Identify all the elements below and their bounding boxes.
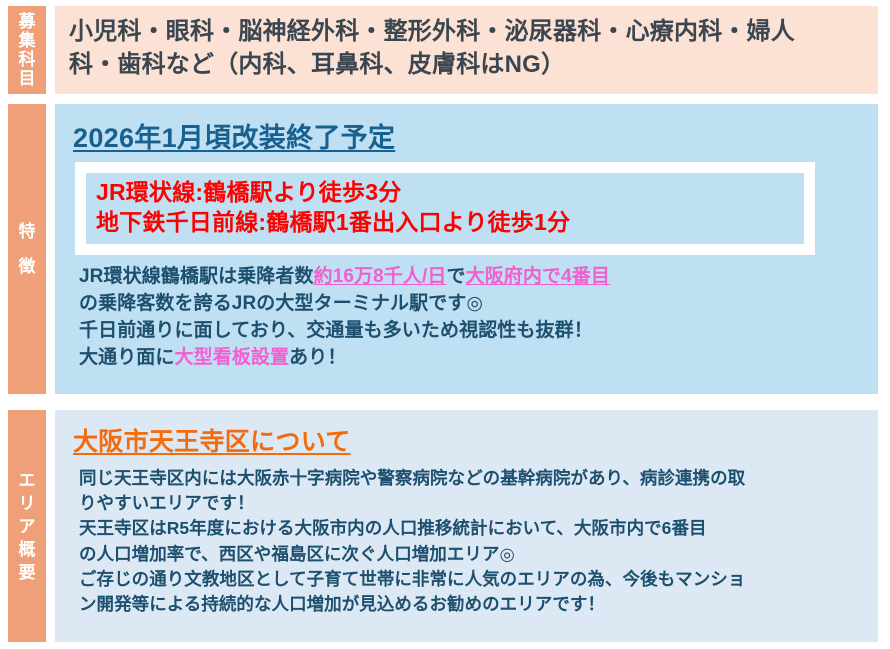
sidebar-label-area: エ リ ア 概 要 [8, 410, 46, 642]
features-body-line-2: の乗降客数を誇るJRの大型ターミナル駅です◎ [79, 291, 866, 318]
sidebar-label-features: 特 徴 [8, 104, 46, 394]
subjects-line-1: 小児科・眼科・脳神経外科・整形外科・泌尿器科・心療内科・婦人 [69, 16, 866, 49]
area-body-line-4: の人口増加率で、西区や福島区に次ぐ人口増加エリア◎ [79, 542, 868, 567]
sidebar-label-area-char-4: 要 [19, 564, 36, 581]
features-body-line-4: 大通り面に大型看板設置あり！ [79, 345, 866, 372]
area-body-line-5: ご存じの通り文教地区として子育て世帯に非常に人気のエリアの為、今後もマンショ [79, 567, 868, 592]
subjects-panel: 小児科・眼科・脳神経外科・整形外科・泌尿器科・心療内科・婦人 科・歯科など（内科… [55, 6, 878, 94]
features-panel: 2026年1月頃改装終了予定 JR環状線:鶴橋駅より徒歩3分 地下鉄千日前線:鶴… [55, 104, 878, 394]
area-panel: 大阪市天王寺区について 同じ天王寺区内には大阪赤十字病院や警察病院などの基幹病院… [55, 410, 878, 642]
features-body: JR環状線鶴橋駅は乗降者数約16万8千人/日で大阪府内で4番目 の乗降客数を誇る… [79, 264, 866, 372]
access-info-box: JR環状線:鶴橋駅より徒歩3分 地下鉄千日前線:鶴橋駅1番出入口より徒歩1分 [75, 162, 815, 255]
sidebar-label-area-char-2: ア [19, 518, 36, 535]
sidebar-label-features-char-1: 徴 [19, 258, 36, 275]
sidebar-label-area-char-3: 概 [19, 541, 36, 558]
features-heading: 2026年1月頃改装終了予定 [73, 116, 395, 155]
sidebar-label-subjects-char-2: 科 [19, 51, 36, 68]
features-body-line-1-part-b: で [446, 266, 465, 287]
listing-sheet: 募 集 科 目 小児科・眼科・脳神経外科・整形外科・泌尿器科・心療内科・婦人 科… [0, 0, 890, 649]
subjects-text: 小児科・眼科・脳神経外科・整形外科・泌尿器科・心療内科・婦人 科・歯科など（内科… [69, 16, 866, 81]
sidebar-label-features-char-0: 特 [19, 223, 36, 240]
features-body-line-4-part-a: 大通り面に [79, 347, 175, 368]
features-body-line-3: 千日前通りに面しており、交通量も多いため視認性も抜群！ [79, 318, 866, 345]
features-body-line-1: JR環状線鶴橋駅は乗降者数約16万8千人/日で大阪府内で4番目 [79, 264, 866, 291]
area-body-line-6: ン開発等による持続的な人口増加が見込めるお勧めのエリアです！ [79, 592, 868, 617]
sidebar-label-subjects-char-0: 募 [19, 13, 36, 30]
area-body-line-1: 同じ天王寺区内には大阪赤十字病院や警察病院などの基幹病院があり、病診連携の取 [79, 466, 868, 491]
sidebar-label-area-char-0: エ [19, 472, 36, 489]
area-heading: 大阪市天王寺区について [73, 422, 351, 458]
area-body-line-2: りやすいエリアです！ [79, 491, 868, 516]
sidebar-label-subjects: 募 集 科 目 [8, 6, 46, 94]
features-body-highlight-rank: 大阪府内で4番目 [466, 266, 610, 287]
features-body-highlight-ridership: 約16万8千人/日 [314, 266, 447, 287]
access-line-subway: 地下鉄千日前線:鶴橋駅1番出入口より徒歩1分 [96, 207, 794, 237]
subjects-line-2: 科・歯科など（内科、耳鼻科、皮膚科はNG） [69, 49, 866, 82]
area-body: 同じ天王寺区内には大阪赤十字病院や警察病院などの基幹病院があり、病診連携の取 り… [79, 466, 868, 617]
sidebar-label-subjects-char-3: 目 [19, 70, 36, 87]
features-body-highlight-signboard: 大型看板設置 [175, 347, 290, 368]
access-line-jr: JR環状線:鶴橋駅より徒歩3分 [96, 177, 794, 207]
sidebar-label-subjects-char-1: 集 [19, 32, 36, 49]
sidebar-label-area-char-1: リ [19, 495, 36, 512]
features-body-line-1-part-a: JR環状線鶴橋駅は乗降者数 [79, 266, 314, 287]
features-body-line-4-part-b: あり！ [289, 347, 346, 368]
area-body-line-3: 天王寺区はR5年度における大阪市内の人口推移統計において、大阪市内で6番目 [79, 516, 868, 541]
